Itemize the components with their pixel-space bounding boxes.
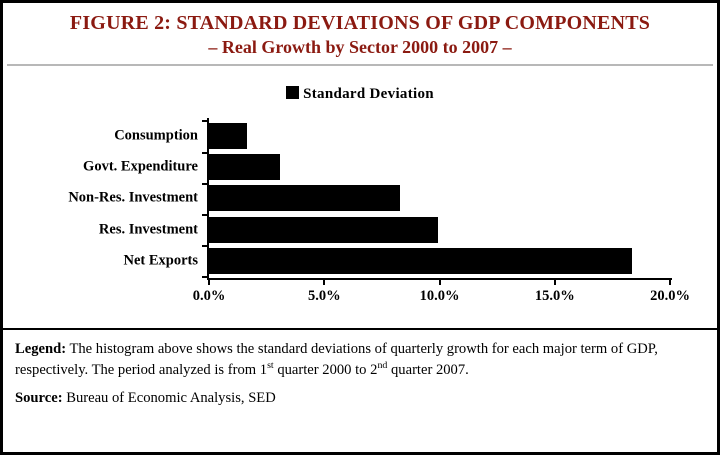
title-divider xyxy=(7,64,713,66)
legend-note: Legend: The histogram above shows the st… xyxy=(15,339,705,380)
bar-fill xyxy=(209,217,438,243)
x-axis-label-0: 0.0% xyxy=(193,288,226,305)
legend-note-text-3: quarter 2007. xyxy=(387,362,468,378)
bar-fill xyxy=(209,185,400,211)
source-note-label: Source: xyxy=(15,390,63,406)
y-axis-label-0: Consumption xyxy=(114,127,198,144)
figure-container: FIGURE 2: STANDARD DEVIATIONS OF GDP COM… xyxy=(0,0,720,455)
x-axis-tick-0 xyxy=(208,278,210,285)
page-title: FIGURE 2: STANDARD DEVIATIONS OF GDP COM… xyxy=(3,11,717,36)
legend-note-label: Legend: xyxy=(15,341,66,357)
legend-note-text-2: quarter 2000 to 2 xyxy=(274,362,378,378)
source-note-text: Bureau of Economic Analysis, SED xyxy=(63,390,276,406)
chart-legend: Standard Deviation xyxy=(3,86,717,103)
x-axis-label-2: 10.0% xyxy=(420,288,460,305)
legend-square-icon xyxy=(286,86,299,99)
legend-entry-label: Standard Deviation xyxy=(303,86,434,102)
y-axis-label-3: Res. Investment xyxy=(99,221,198,238)
figure-footer: Legend: The histogram above shows the st… xyxy=(3,330,717,408)
figure-title-block: FIGURE 2: STANDARD DEVIATIONS OF GDP COM… xyxy=(3,3,717,70)
bar-fill xyxy=(209,154,280,180)
chart-area: Standard Deviation ConsumptionGovt. Expe… xyxy=(3,70,717,328)
x-axis-tick-4 xyxy=(669,278,671,285)
y-axis-tick-2 xyxy=(202,183,208,185)
y-axis-tick-0 xyxy=(202,120,208,122)
bar-govt-expenditure: Govt. Expenditure xyxy=(209,154,280,180)
y-axis-label-2: Non-Res. Investment xyxy=(68,190,198,207)
bar-consumption: Consumption xyxy=(209,123,247,149)
bar-res-investment: Res. Investment xyxy=(209,217,438,243)
legend-note-ordinal-1: st xyxy=(267,360,274,371)
x-axis-tick-2 xyxy=(439,278,441,285)
x-axis-tick-3 xyxy=(554,278,556,285)
legend-note-ordinal-2: nd xyxy=(377,360,387,371)
x-axis-tick-1 xyxy=(323,278,325,285)
bar-non-res-investment: Non-Res. Investment xyxy=(209,185,400,211)
y-axis-tick-1 xyxy=(202,152,208,154)
y-axis-tick-4 xyxy=(202,245,208,247)
y-axis-label-1: Govt. Expenditure xyxy=(83,159,198,176)
bar-fill xyxy=(209,248,632,274)
bar-fill xyxy=(209,123,247,149)
source-note: Source: Bureau of Economic Analysis, SED xyxy=(15,388,705,409)
y-axis-label-4: Net Exports xyxy=(123,252,198,269)
y-axis-tick-3 xyxy=(202,214,208,216)
x-axis-label-3: 15.0% xyxy=(535,288,575,305)
x-axis-label-4: 20.0% xyxy=(650,288,690,305)
plot-region: ConsumptionGovt. ExpenditureNon-Res. Inv… xyxy=(209,120,670,276)
figure-subtitle: – Real Growth by Sector 2000 to 2007 – xyxy=(3,36,717,59)
x-axis-label-1: 5.0% xyxy=(308,288,341,305)
bar-net-exports: Net Exports xyxy=(209,248,632,274)
